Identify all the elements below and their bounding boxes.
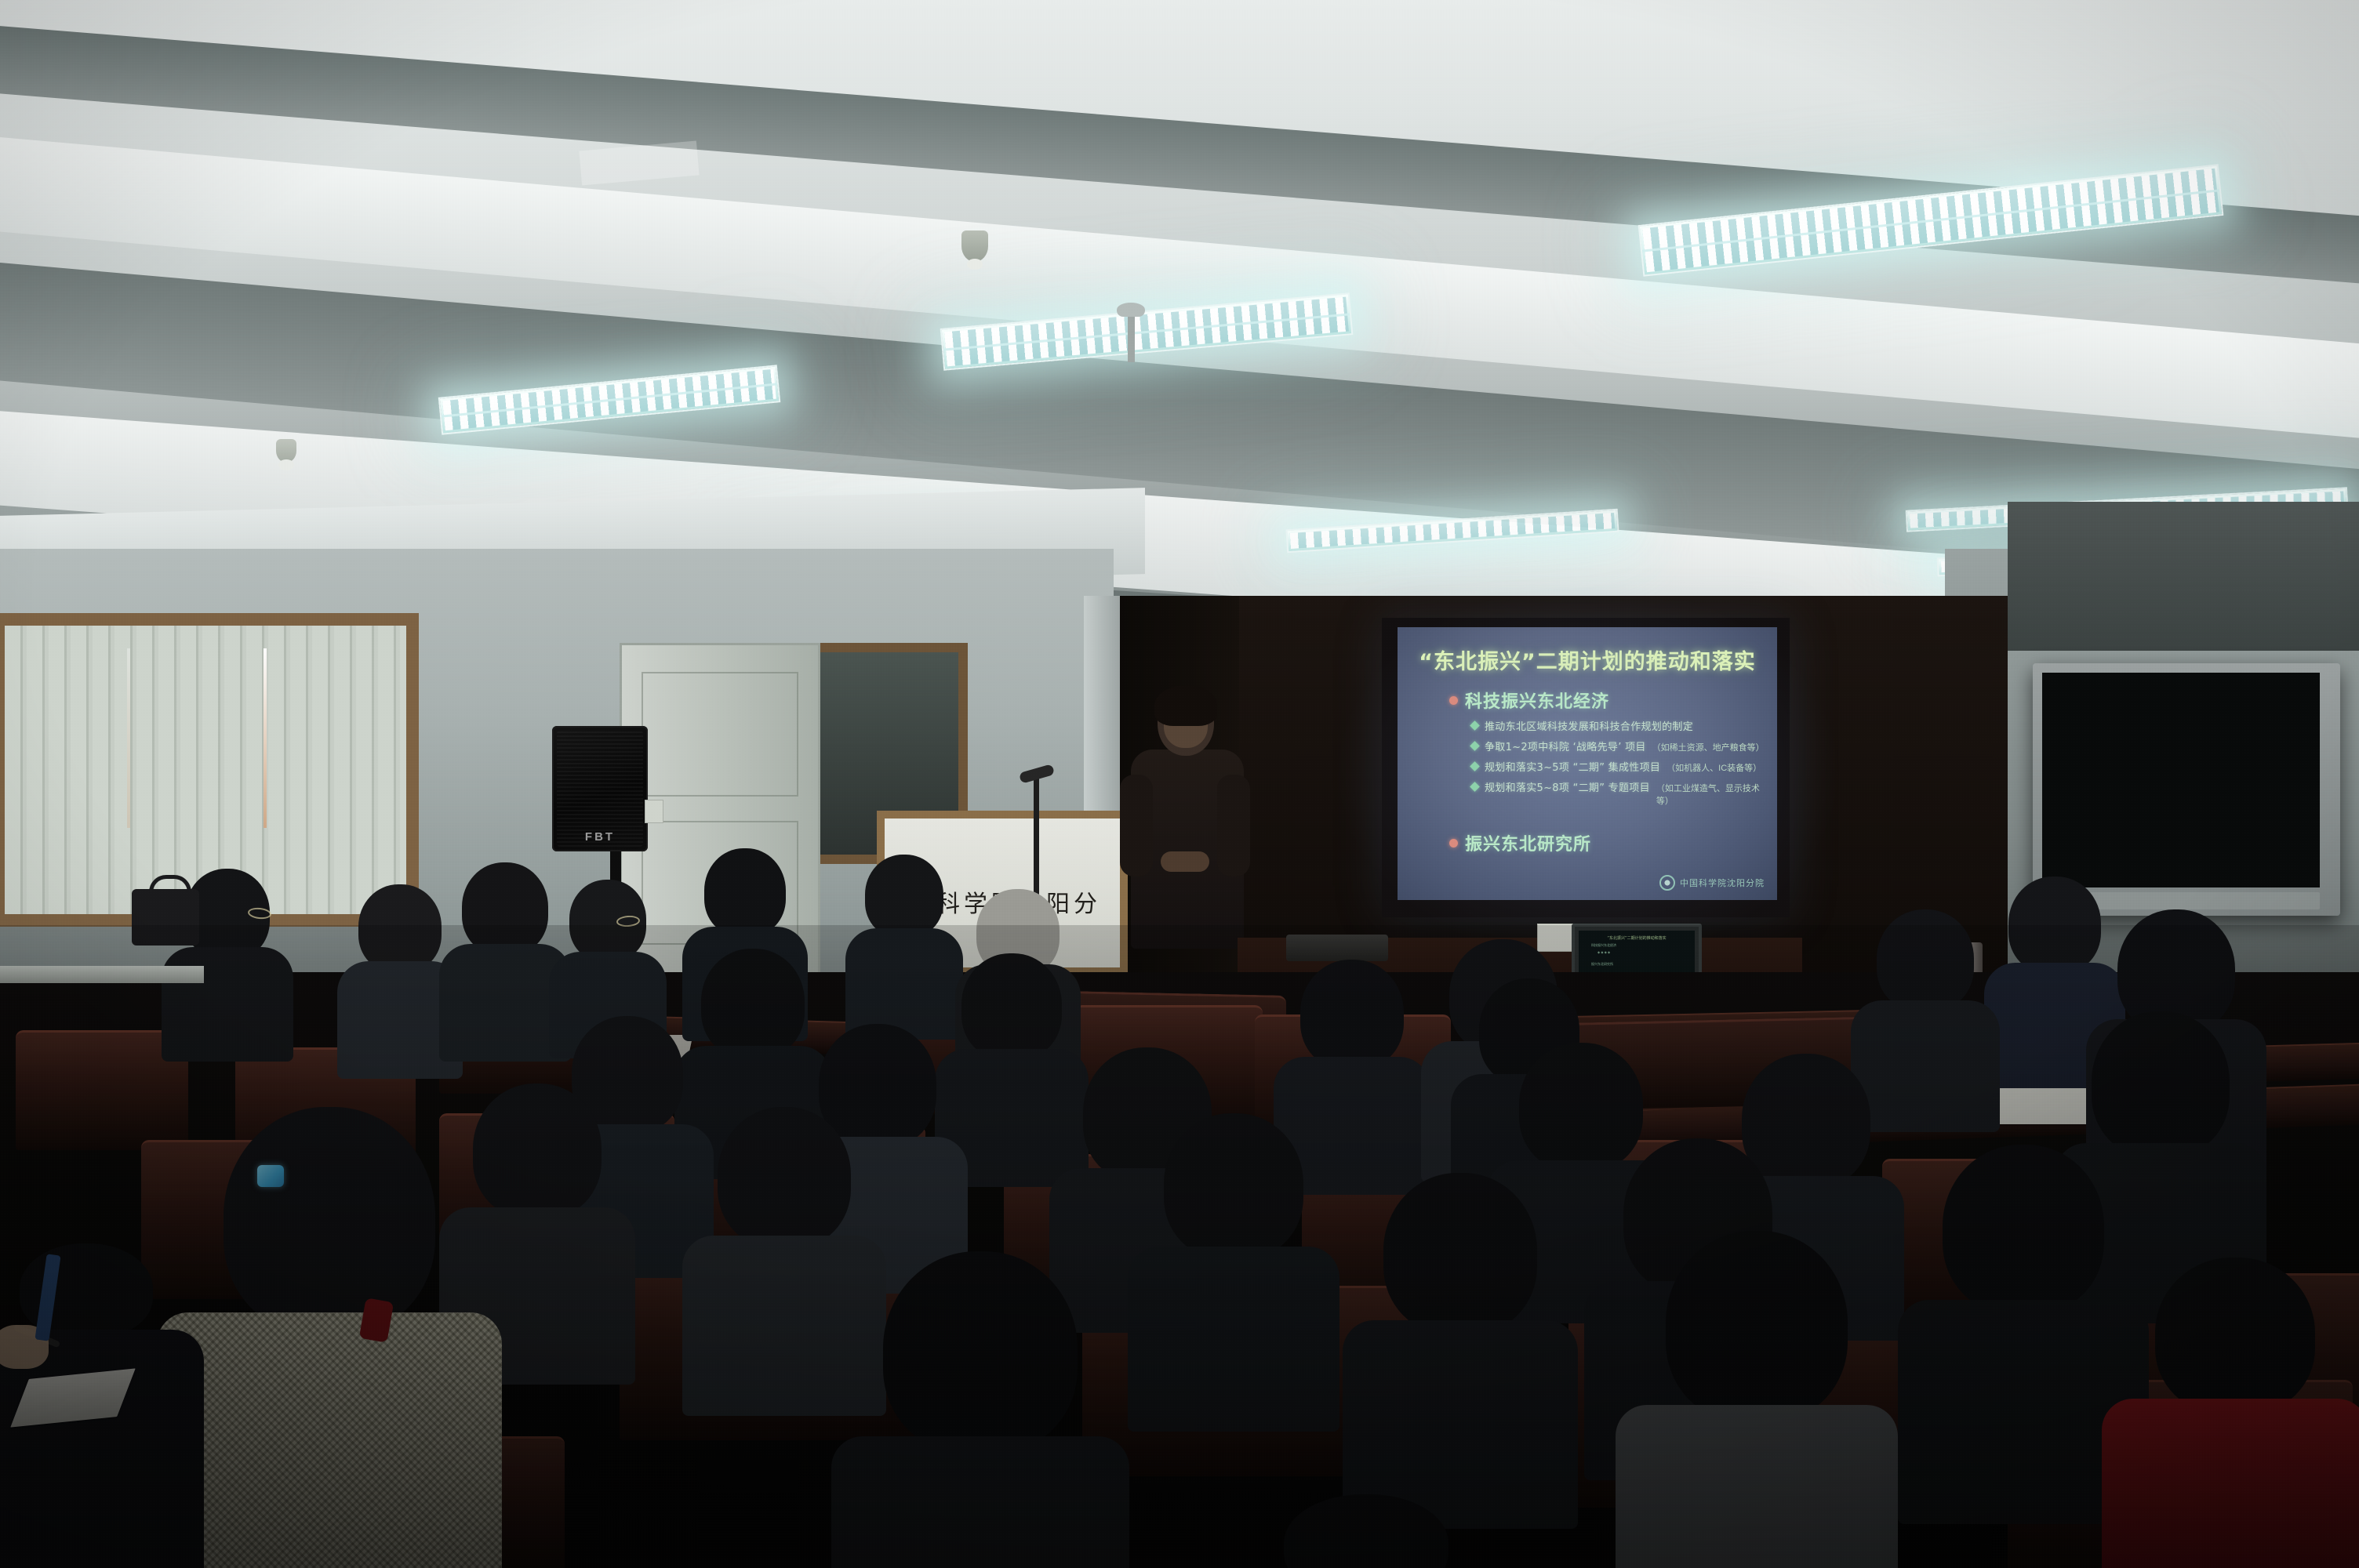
right-wall-upper-band (2008, 502, 2359, 651)
person-head (1666, 1231, 1848, 1422)
person-head (718, 1107, 851, 1248)
person-head (1164, 1113, 1303, 1259)
slide-subbullet-4: 规划和落实5~8项 “二期” 专题项目 （如工业煤造气、显示技术等） (1471, 779, 1761, 807)
person-head (2155, 1258, 2315, 1414)
audience-member (831, 1251, 1129, 1568)
slide-organization-logo: 中国科学院沈阳分院 (1659, 875, 1765, 891)
person-head (1877, 909, 1974, 1011)
person-head (704, 848, 786, 936)
handbag-handle (149, 875, 191, 899)
laptop-slide-line1: 科技振兴东北经济 (1591, 943, 1695, 948)
slide-subbullet-text: 规划和落实3~5项 “二期” 集成性项目 (1485, 759, 1660, 774)
person-head (883, 1251, 1078, 1454)
person-head (224, 1107, 435, 1334)
slide-subbullet-text: 规划和落实5~8项 “二期” 专题项目 (1485, 779, 1650, 794)
slide-bullet-text: 科技振兴东北经济 (1465, 688, 1609, 713)
ceiling-hatch (579, 141, 699, 186)
person-torso (1128, 1247, 1339, 1432)
presenter-speaker (1117, 690, 1258, 949)
slide-subbullet-text: 推动东北区域科技发展和科技合作规划的制定 (1485, 718, 1693, 733)
person-head (1300, 960, 1404, 1069)
slide-subbullet-3: 规划和落实3~5项 “二期” 集成性项目 （如机器人、IC装备等） (1471, 759, 1761, 774)
slide-subbullet-note: （如工业煤造气、显示技术等） (1656, 782, 1761, 807)
laptop-slide-body: ◆ ◆ ◆ ◆ (1598, 950, 1695, 954)
person-torso (1616, 1405, 1898, 1568)
audience-member-cream-jacket (157, 1107, 502, 1568)
slide-subbullet-note: （如机器人、IC装备等） (1667, 761, 1761, 774)
audience-member (1343, 1173, 1578, 1518)
person-head (462, 862, 548, 955)
slide-subbullet-text: 争取1~2项中科院 ‘战略先导’ 项目 (1485, 739, 1646, 753)
desk-microphone-stand (1034, 778, 1039, 903)
audience-member (1241, 1494, 1492, 1568)
projection-screen: “东北振兴”二期计划的推动和落实 科技振兴东北经济 推动东北区域科技发展和科技合… (1398, 627, 1777, 900)
bullet-diamond-icon (1470, 741, 1480, 751)
bullet-dot-icon (1449, 839, 1458, 848)
audience-member (1616, 1231, 1898, 1568)
slide-bullet-text: 振兴东北研究所 (1465, 830, 1591, 855)
person-torso-cream-jacket (157, 1312, 502, 1568)
wall-ledge (0, 966, 204, 983)
presentation-slide: “东北振兴”二期计划的推动和落实 科技振兴东北经济 推动东北区域科技发展和科技合… (1398, 627, 1777, 900)
blue-hair-clip (257, 1165, 284, 1187)
bullet-dot-icon (1449, 696, 1458, 705)
audience-member-red-jacket (2102, 1258, 2359, 1568)
person-torso (162, 947, 293, 1062)
audience-member (1128, 1113, 1339, 1419)
conference-room-photo: 科学院沈阳分 FBT “东北振兴”二期计划的推动和落实 科技振兴东北经济 推动东… (0, 0, 2359, 1568)
person-torso (2102, 1399, 2359, 1568)
pa-speaker: FBT (552, 726, 648, 851)
person-head (2092, 1011, 2230, 1157)
person-head (1943, 1145, 2104, 1314)
slide-bullet-level1-1: 科技振兴东北经济 (1449, 688, 1761, 713)
monitor-panel (2042, 673, 2320, 887)
presenter-hair (1154, 685, 1217, 726)
person-head (961, 953, 1062, 1060)
slide-subbullet-2: 争取1~2项中科院 ‘战略先导’ 项目 （如稀土资源、地产粮食等） (1471, 739, 1761, 753)
smoke-detector (961, 230, 988, 262)
ceiling-projector-unit (1286, 935, 1388, 961)
person-head (1284, 1494, 1448, 1568)
bullet-diamond-icon (1470, 720, 1480, 731)
academy-seal-icon (1659, 875, 1675, 891)
laptop-slide-title: “东北振兴”二期计划的推动和落实 (1579, 935, 1695, 941)
sprinkler-head (1128, 312, 1135, 362)
presenter-hands (1161, 851, 1209, 872)
bullet-diamond-icon (1470, 782, 1480, 792)
speaker-brand-label: FBT (585, 830, 615, 844)
slide-subbullet-note: （如稀土资源、地产粮食等） (1652, 741, 1761, 753)
person-torso (831, 1436, 1129, 1568)
slide-title: “东北振兴”二期计划的推动和落实 (1413, 644, 1761, 675)
slide-bullet-level1-2: 振兴东北研究所 (1449, 830, 1761, 855)
slide-subbullet-1: 推动东北区域科技发展和科技合作规划的制定 (1471, 718, 1761, 733)
person-head (865, 855, 943, 938)
presenter-arm-right (1217, 775, 1250, 877)
smoke-detector-2 (276, 439, 296, 463)
bullet-diamond-icon (1470, 761, 1480, 771)
person-head (1383, 1173, 1537, 1334)
slide-logo-text: 中国科学院沈阳分院 (1680, 877, 1765, 889)
person-head (358, 884, 442, 972)
laptop-slide-line2: 振兴东北研究所 (1591, 962, 1695, 967)
presenter-arm-left (1120, 775, 1153, 877)
wall-outlet (645, 800, 663, 823)
